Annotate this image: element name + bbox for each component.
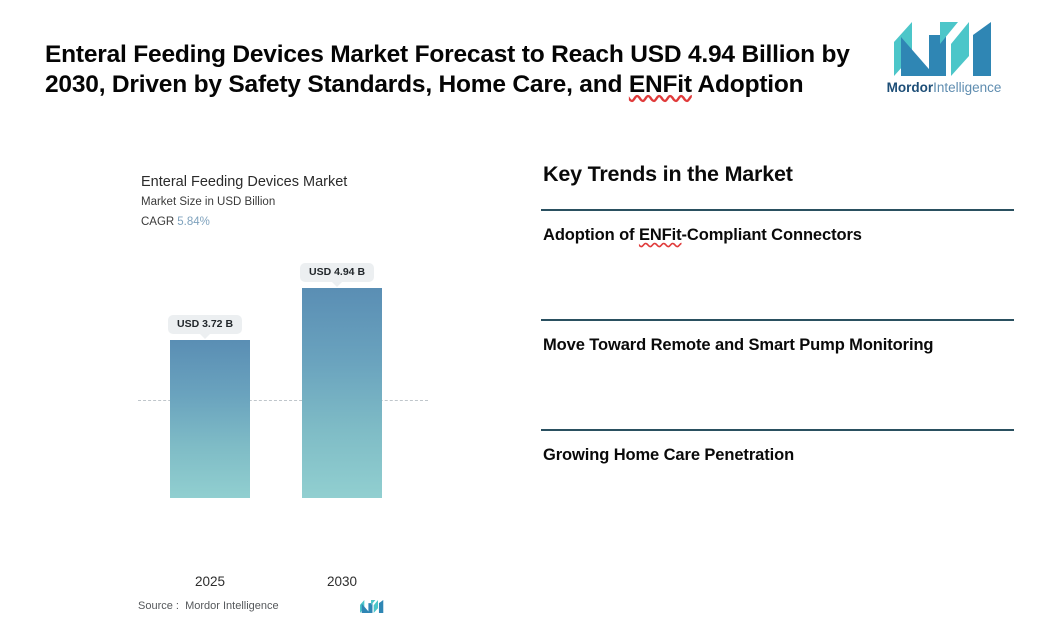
page-header: Enteral Feeding Devices Market Forecast … [0, 0, 1041, 130]
chart-plot-area: USD 3.72 B USD 4.94 B 2025 2030 Source :… [130, 238, 430, 498]
chart-cagr-label: CAGR [141, 216, 174, 228]
mordor-logo-wordmark: MordorIntelligence [884, 80, 1004, 95]
key-trends-panel: Key Trends in the Market Adoption of ENF… [541, 160, 1014, 504]
chart-source-row: Source : Mordor Intelligence [138, 599, 430, 617]
chart-source-text: Source : Mordor Intelligence [138, 600, 279, 612]
trend-item-1: Move Toward Remote and Smart Pump Monito… [541, 319, 1014, 429]
page-title: Enteral Feeding Devices Market Forecast … [45, 40, 850, 100]
trend-1-text-before: Move Toward Remote and Smart Pump Monito… [543, 336, 933, 354]
chart-source-name: Mordor Intelligence [185, 600, 279, 612]
trend-item-0: Adoption of ENFit-Compliant Connectors [541, 209, 1014, 319]
bar-value-label-2030: USD 4.94 B [300, 263, 374, 282]
chart-cagr-value: 5.84% [177, 216, 210, 228]
chart-cagr: CAGR5.84% [141, 216, 210, 228]
bar-2030 [302, 288, 382, 498]
trend-0-text-after: -Compliant Connectors [682, 226, 862, 244]
page-title-misspelled-word: ENFit [629, 71, 692, 98]
bar-2025 [170, 340, 250, 498]
x-axis-label-2025: 2025 [170, 574, 250, 589]
chart-title: Enteral Feeding Devices Market [141, 174, 347, 190]
trend-0-text-before: Adoption of [543, 226, 639, 244]
chart-source-label: Source : [138, 600, 179, 612]
brand-word-secondary: Intelligence [933, 80, 1001, 95]
market-size-chart: Enteral Feeding Devices Market Market Si… [130, 168, 430, 548]
bar-value-label-2025: USD 3.72 B [168, 315, 242, 334]
trend-2-text-before: Growing Home Care Penetration [543, 446, 794, 464]
trend-label-2: Growing Home Care Penetration [543, 444, 1014, 467]
mordor-logo-mark-icon [894, 22, 994, 76]
trend-label-1: Move Toward Remote and Smart Pump Monito… [543, 334, 1014, 357]
mordor-logo-mark-small-icon [360, 599, 384, 614]
x-axis-label-2030: 2030 [302, 574, 382, 589]
trend-label-0: Adoption of ENFit-Compliant Connectors [543, 224, 1014, 247]
key-trends-heading: Key Trends in the Market [543, 160, 1014, 188]
mordor-intelligence-logo: MordorIntelligence [884, 22, 1004, 100]
trend-item-2: Growing Home Care Penetration [541, 429, 1014, 504]
chart-subtitle: Market Size in USD Billion [141, 196, 275, 208]
brand-word-primary: Mordor [887, 80, 934, 95]
trend-0-misspelled-word: ENFit [639, 226, 682, 244]
page-title-text-after: Adoption [692, 71, 804, 98]
